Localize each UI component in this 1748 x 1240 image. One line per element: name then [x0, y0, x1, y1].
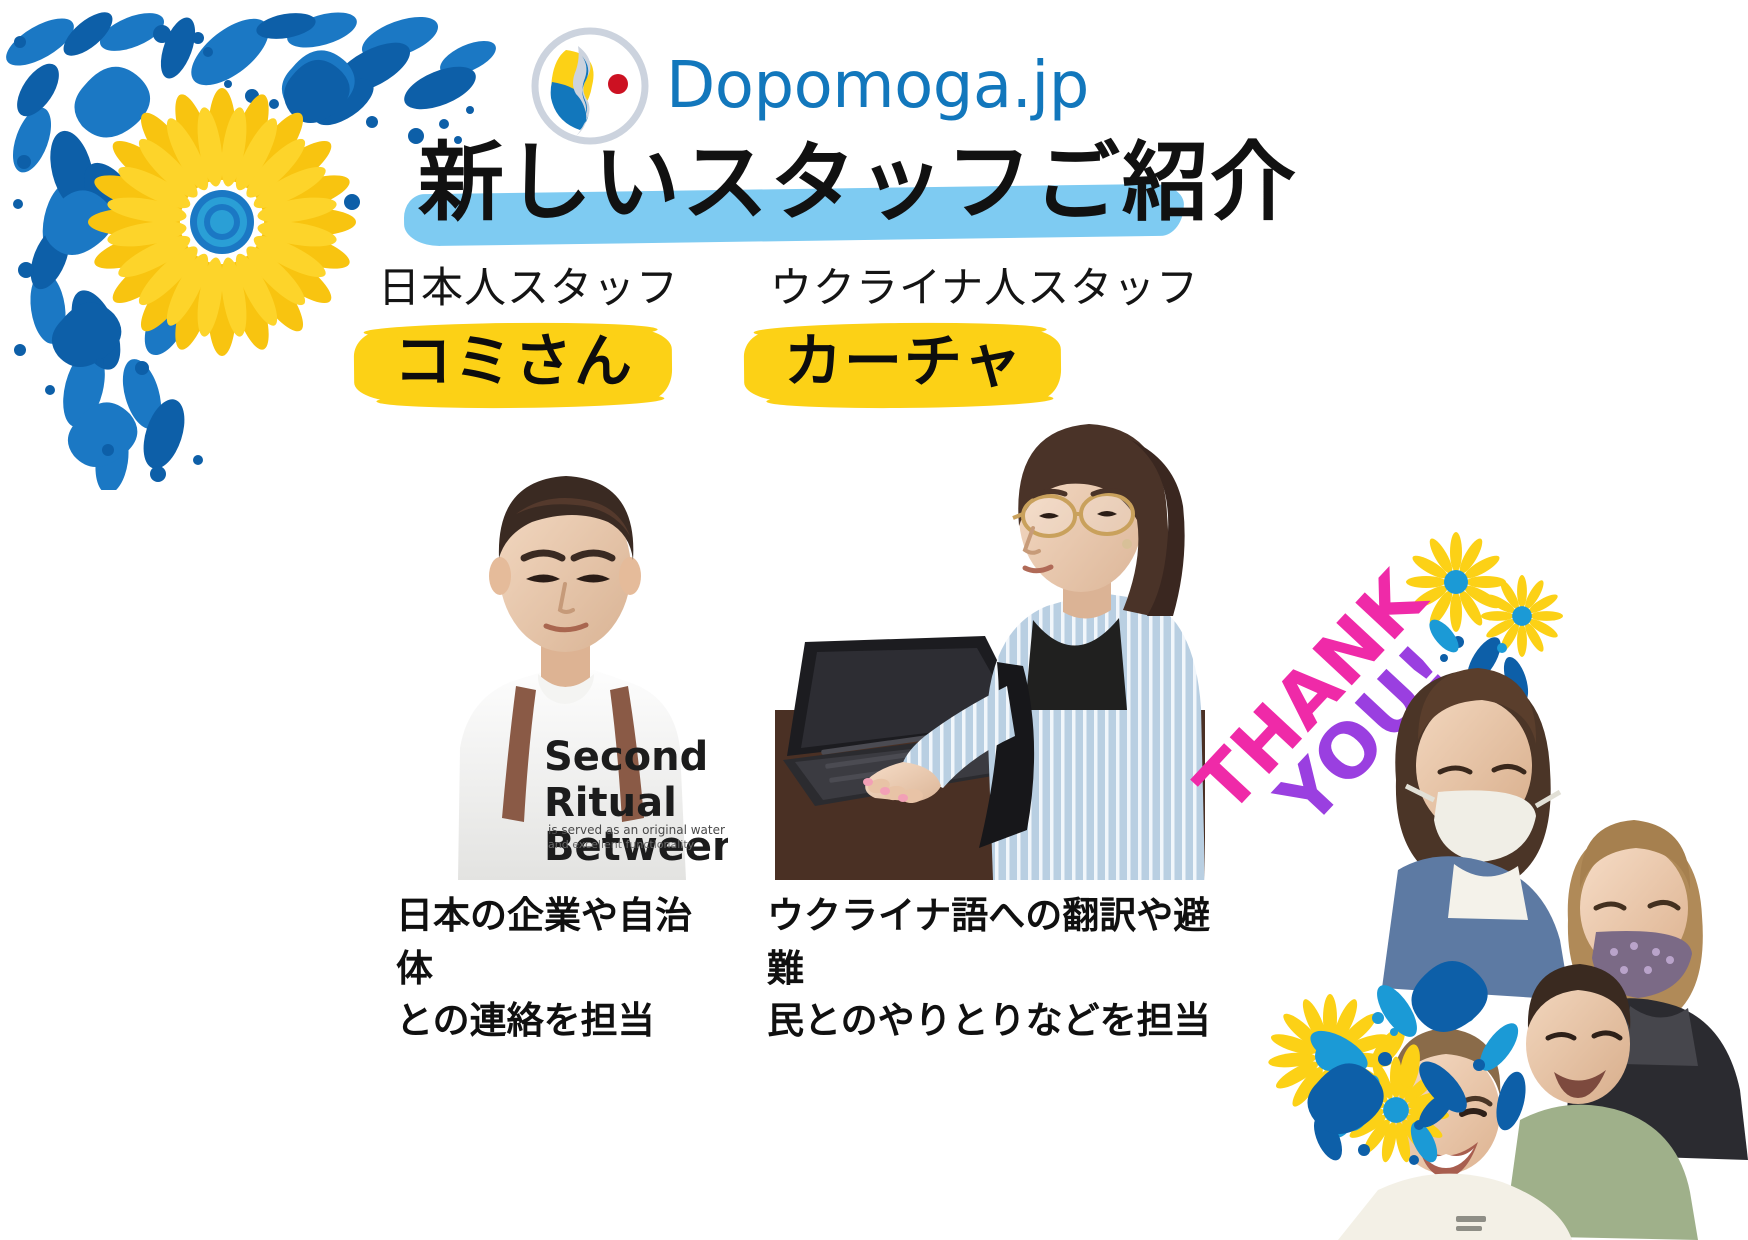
staff-role-label: 日本人スタッフ	[378, 262, 732, 315]
description-line: 民とのやりとりなどを担当	[767, 995, 1227, 1048]
group-photo-collage	[1278, 620, 1748, 1240]
page-title-text: 新しいスタッフご紹介	[418, 134, 1298, 233]
dopomoga-flame-circle-logo-icon	[530, 26, 650, 146]
staff-name-text: カーチャ	[762, 325, 1045, 403]
staff-photo-ukrainian	[775, 410, 1205, 880]
staff-name-badge: カーチャ	[762, 325, 1045, 403]
staff-name-badge: コミさん	[372, 325, 656, 403]
staff-description-ukrainian: ウクライナ語への翻訳や避難 民とのやりとりなどを担当	[767, 890, 1227, 1048]
svg-text:is served as an original water: is served as an original water	[548, 823, 725, 837]
collage-person-top	[1382, 668, 1570, 1000]
svg-text:and excellent functionality: and excellent functionality	[548, 838, 695, 851]
slide-canvas: Dopomoga.jp 新しいスタッフご紹介 日本人スタッフ コミさん	[0, 0, 1748, 1240]
svg-text:Second: Second	[544, 734, 708, 780]
description-line: ウクライナ語への翻訳や避難	[767, 890, 1227, 995]
staff-description-japanese: 日本の企業や自治体 との連絡を担当	[396, 890, 726, 1048]
staff-name-text: コミさん	[372, 325, 656, 403]
staff-card-japanese: 日本人スタッフ コミさん	[372, 262, 732, 402]
svg-text:Ritual: Ritual	[544, 780, 677, 826]
brand-logo[interactable]: Dopomoga.jp	[530, 26, 1089, 146]
description-line: との連絡を担当	[396, 995, 726, 1048]
description-line: 日本の企業や自治体	[396, 890, 726, 995]
staff-photo-japanese: Second Ritual Between is served as an or…	[398, 418, 728, 880]
page-title: 新しいスタッフご紹介	[400, 134, 1200, 244]
staff-role-label: ウクライナ人スタッフ	[770, 262, 1232, 315]
brand-logo-text: Dopomoga.jp	[666, 54, 1089, 118]
staff-card-ukrainian: ウクライナ人スタッフ カーチャ	[762, 262, 1232, 402]
